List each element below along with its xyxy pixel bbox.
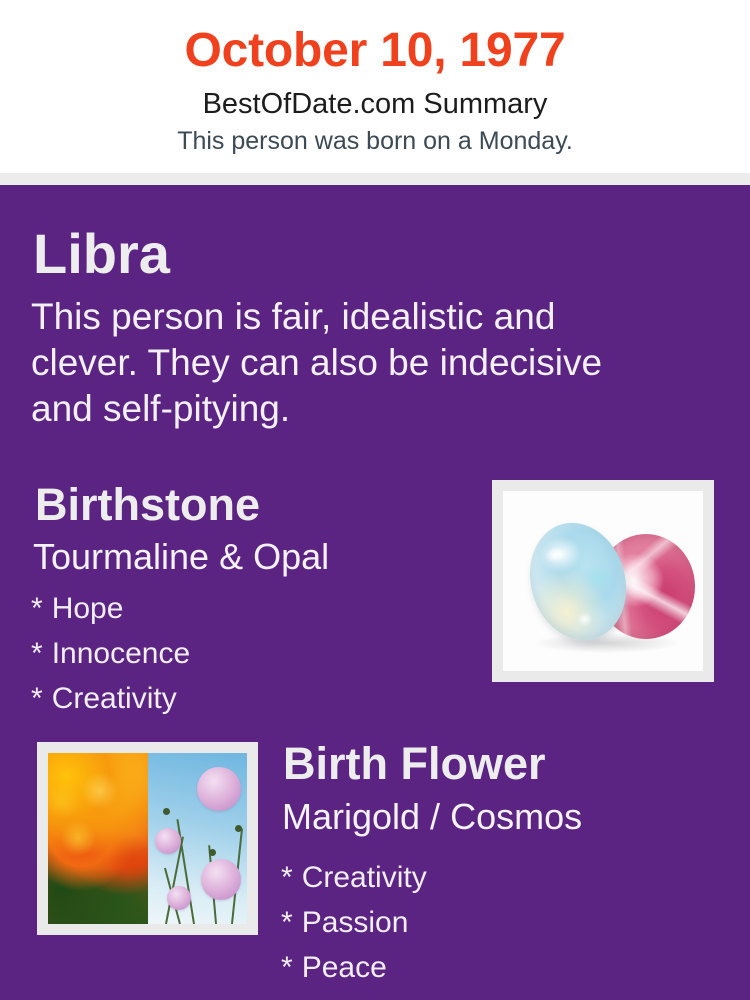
- zodiac-sign-heading: Libra: [33, 222, 170, 286]
- list-item: *Peace: [281, 945, 701, 990]
- site-summary-label: BestOfDate.com Summary: [0, 86, 750, 122]
- bullet-star-icon: *: [31, 682, 43, 715]
- bestofdate-summary-card: October 10, 1977 BestOfDate.com Summary …: [0, 0, 750, 1000]
- list-item: *Passion: [281, 900, 701, 945]
- birthstone-trait-list: *Hope *Innocence *Creativity: [31, 586, 451, 721]
- birth-flower-photo: [48, 753, 247, 924]
- bullet-star-icon: *: [31, 637, 43, 670]
- birth-flower-trait-list: *Creativity *Passion *Peace: [281, 855, 701, 990]
- cosmos-photo-half: [148, 753, 248, 924]
- bullet-star-icon: *: [281, 861, 293, 894]
- trait-label: Creativity: [52, 682, 177, 715]
- gemstone-illustration: [503, 491, 703, 671]
- cosmos-flower-icon: [197, 767, 241, 811]
- trait-label: Creativity: [302, 861, 427, 894]
- cosmos-bud-icon: [163, 808, 170, 815]
- header-divider: [0, 173, 750, 185]
- list-item: *Hope: [31, 586, 451, 631]
- list-item: *Creativity: [281, 855, 701, 900]
- birthstone-heading: Birthstone: [35, 479, 260, 531]
- birth-flower-heading: Birth Flower: [283, 738, 546, 790]
- birth-flower-photo-frame: [37, 742, 258, 935]
- page-title-date: October 10, 1977: [0, 22, 750, 80]
- trait-label: Passion: [302, 906, 409, 939]
- birth-flower-names: Marigold / Cosmos: [282, 795, 582, 839]
- cosmos-bud-icon: [235, 825, 242, 832]
- cosmos-bud-icon: [209, 849, 216, 856]
- flower-illustration: [48, 753, 247, 924]
- birthstone-names: Tourmaline & Opal: [33, 535, 329, 579]
- cosmos-flower-icon: [167, 886, 191, 910]
- marigold-photo-half: [48, 753, 148, 924]
- cosmos-flower-icon: [201, 859, 241, 900]
- list-item: *Creativity: [31, 676, 451, 721]
- birthstone-photo: [503, 491, 703, 671]
- trait-label: Innocence: [52, 637, 190, 670]
- birthstone-photo-frame: [492, 480, 714, 682]
- cosmos-flower-icon: [155, 828, 181, 854]
- bullet-star-icon: *: [31, 592, 43, 625]
- trait-label: Peace: [302, 951, 387, 984]
- bullet-star-icon: *: [281, 951, 293, 984]
- card-header: October 10, 1977 BestOfDate.com Summary …: [0, 0, 750, 173]
- trait-label: Hope: [52, 592, 124, 625]
- bullet-star-icon: *: [281, 906, 293, 939]
- zodiac-description: This person is fair, idealistic and clev…: [31, 294, 611, 432]
- list-item: *Innocence: [31, 631, 451, 676]
- birth-weekday-note: This person was born on a Monday.: [0, 125, 750, 157]
